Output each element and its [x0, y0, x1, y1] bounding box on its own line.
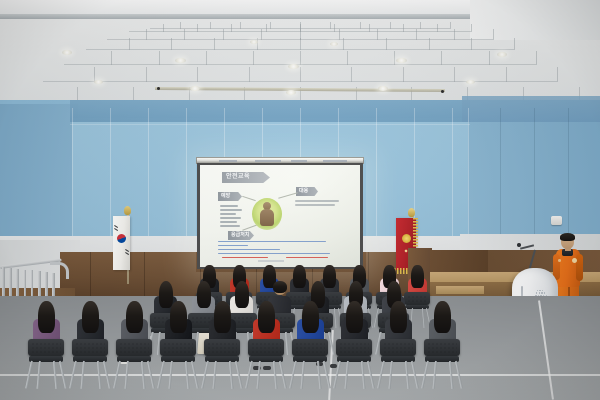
auditorium-scene: 안전교육 예방 대응 응급처치 [0, 0, 600, 400]
korean-flag-finial-icon [124, 206, 131, 215]
wall-panel-seam [70, 124, 470, 125]
downlight-icon [288, 64, 299, 69]
chair-leg [212, 361, 216, 389]
chair-leg [361, 361, 365, 389]
chair-perforation [31, 342, 61, 353]
chair-backrest[interactable] [204, 339, 240, 356]
chair-backrest[interactable] [72, 339, 108, 356]
chair-leg [147, 361, 155, 388]
audience-seat [380, 301, 416, 396]
wall-panel-seam [468, 108, 469, 246]
chair-leg [235, 361, 243, 388]
attendee-hair [302, 301, 319, 333]
chair-leg [141, 361, 145, 389]
wall-panel-seam [72, 108, 73, 246]
slide-title-text: 안전교육 [226, 174, 250, 181]
chair-backrest[interactable] [424, 339, 460, 356]
chair-leg [201, 361, 209, 388]
slide-bullet [220, 221, 237, 223]
attendee-hair [346, 301, 363, 333]
presenter-hair [560, 233, 575, 241]
chair-seat[interactable] [73, 356, 106, 362]
chair-backrest[interactable] [160, 339, 196, 356]
chair-backrest[interactable] [248, 339, 284, 356]
chair-seat[interactable] [161, 356, 194, 362]
wall-panel-seam [376, 108, 377, 246]
audience-seat [424, 301, 460, 396]
chair-seat[interactable] [205, 356, 238, 362]
slide-tag-left-text: 예방 [221, 192, 230, 201]
chair-leg [285, 332, 289, 355]
slide-bullet [220, 209, 242, 211]
slide-connector [278, 192, 298, 198]
chair-perforation [119, 342, 149, 353]
wall-panel-seam [148, 108, 149, 246]
slide-figure-icon [260, 202, 274, 226]
attendee-hair [214, 301, 231, 333]
organization-flag-finial-icon [408, 208, 415, 217]
chair-leg [432, 361, 436, 389]
chair-perforation [295, 342, 325, 353]
slide-bullet [295, 204, 335, 206]
chair-seat[interactable] [293, 356, 326, 362]
slide-tag-bottom: 응급처치 [228, 231, 254, 240]
slide-bullet [295, 200, 339, 202]
chair-perforation [163, 342, 193, 353]
chair-leg [377, 361, 385, 388]
wall-panel-seam [452, 108, 453, 246]
slide-body-line [218, 245, 248, 246]
audience-seat [292, 301, 328, 396]
audience-seating [0, 255, 600, 400]
chair-leg [124, 361, 128, 389]
slide-bullet [220, 213, 236, 215]
slide-connector [242, 196, 256, 201]
attendee-hair [126, 301, 143, 333]
wall-panel-seam [500, 108, 501, 246]
audience-seat [116, 301, 152, 396]
chair-leg [344, 361, 348, 389]
chair-leg [103, 361, 111, 388]
chair-perforation [251, 342, 281, 353]
chair-leg [168, 361, 172, 389]
chair-backrest[interactable] [28, 339, 64, 356]
attendee-hair [170, 301, 187, 333]
chair-leg [245, 361, 253, 388]
slide-tag-right: 대응 [296, 187, 318, 196]
slide-tag-bottom-text: 응급처치 [231, 231, 249, 240]
chair-seat[interactable] [29, 356, 62, 362]
audience-seat [248, 301, 284, 396]
audience-seat [72, 301, 108, 396]
chair-leg [455, 361, 463, 388]
attendee-hair [390, 301, 407, 333]
audience-seat [336, 301, 372, 396]
chair-leg [36, 361, 40, 389]
chair-leg [388, 361, 392, 389]
downlight-icon [378, 86, 388, 91]
chair-leg [25, 361, 33, 388]
chair-backrest[interactable] [292, 339, 328, 356]
chair-perforation [75, 342, 105, 353]
audience-seat [160, 301, 196, 396]
chair-seat[interactable] [337, 356, 370, 362]
wall-speaker-icon [551, 216, 562, 225]
chair-leg [411, 361, 419, 388]
chair-perforation [207, 342, 237, 353]
attendee-hair [434, 301, 451, 333]
chair-leg [191, 361, 199, 388]
chair-backrest[interactable] [116, 339, 152, 356]
attendee-hair [273, 281, 287, 293]
chair-leg [405, 361, 409, 389]
chair-leg [256, 361, 260, 389]
attendee-hair [82, 301, 99, 333]
downlight-icon [497, 52, 507, 57]
slide-title-banner: 안전교육 [222, 172, 270, 183]
chair-leg [421, 361, 429, 388]
downlight-icon [286, 90, 296, 95]
downlight-icon [94, 80, 103, 84]
downlight-icon [396, 58, 407, 63]
wall-panel-seam [110, 108, 111, 246]
chair-leg [279, 361, 287, 388]
flag-emblem-icon [402, 234, 411, 243]
chair-perforation [383, 342, 413, 353]
attendee-hair [258, 301, 275, 333]
wall-panel-seam [568, 108, 569, 246]
slide-tag-right-text: 대응 [299, 187, 308, 196]
chair-leg [367, 361, 375, 388]
chair-leg [289, 361, 297, 388]
slide-center-photo [252, 198, 282, 230]
chair-leg [59, 361, 67, 388]
downlight-icon [62, 50, 72, 55]
projection-screen[interactable]: 안전교육 예방 대응 응급처치 [200, 165, 360, 267]
downlight-icon [330, 42, 338, 46]
chair-leg [273, 361, 277, 389]
chair-leg [328, 332, 334, 355]
wall-panel-seam [186, 108, 187, 246]
chair-leg [53, 361, 57, 389]
taeguk-circle-icon [117, 234, 126, 243]
chair-seat[interactable] [381, 356, 414, 362]
chair-leg [229, 361, 233, 389]
audience-seat [204, 301, 240, 396]
chair-seat[interactable] [425, 356, 458, 362]
chair-leg [300, 361, 304, 389]
chair-leg [185, 361, 189, 389]
microphone-icon[interactable] [517, 243, 521, 247]
slide-body-line [218, 249, 280, 250]
slide-bullet [220, 205, 238, 207]
downlight-icon [175, 58, 186, 63]
chair-leg [449, 361, 453, 389]
slide-bullet [220, 217, 241, 219]
wall-panel-seam [534, 108, 535, 246]
chair-leg [80, 361, 84, 389]
chair-leg [69, 361, 77, 388]
chair-seat[interactable] [249, 356, 282, 362]
slide-bullet [220, 225, 240, 227]
slide-body-line [218, 241, 326, 242]
chair-leg [317, 361, 321, 389]
audience-seat [28, 301, 64, 396]
chair-leg [97, 361, 101, 389]
slide-tag-left: 예방 [218, 192, 242, 201]
chair-leg [113, 361, 121, 388]
chair-seat[interactable] [117, 356, 150, 362]
downlight-icon [250, 40, 258, 44]
attendee-hair [38, 301, 55, 333]
chair-leg [157, 361, 165, 388]
chair-perforation [427, 342, 457, 353]
downlight-icon [466, 80, 475, 84]
chair-backrest[interactable] [380, 339, 416, 356]
downlight-icon [190, 86, 200, 91]
chair-backrest[interactable] [336, 339, 372, 356]
chair-perforation [339, 342, 369, 353]
attendee-hair [411, 265, 423, 288]
